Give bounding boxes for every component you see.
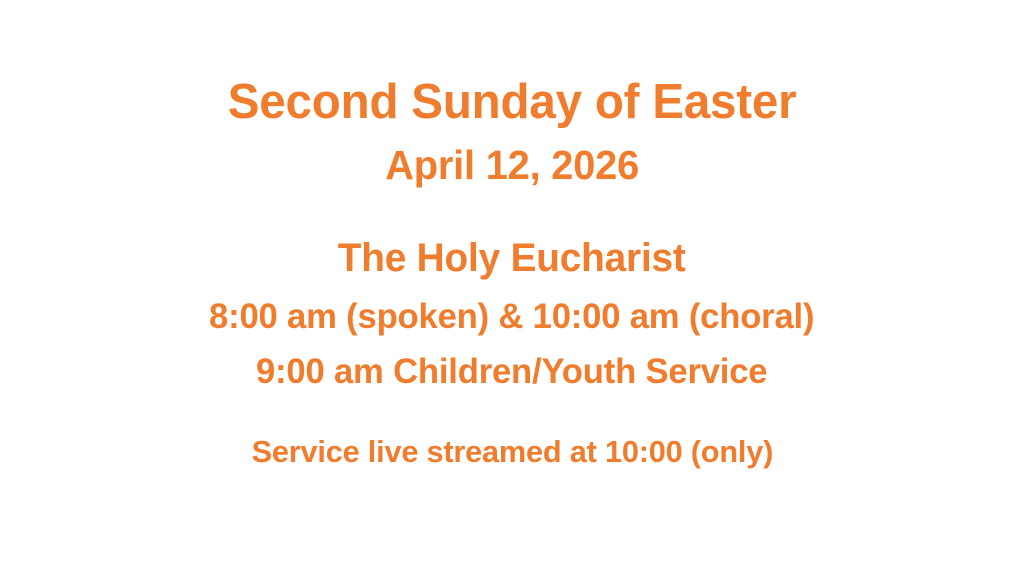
heading-group: Second Sunday of Easter April 12, 2026 <box>219 74 805 189</box>
service-title: The Holy Eucharist <box>215 235 808 281</box>
livestream-group: Service live streamed at 10:00 (only) <box>249 433 776 471</box>
service-group: The Holy Eucharist 8:00 am (spoken) & 10… <box>206 235 817 393</box>
service-times-primary: 8:00 am (spoken) & 10:00 am (choral) <box>209 296 814 338</box>
service-date: April 12, 2026 <box>228 141 797 189</box>
livestream-notice: Service live streamed at 10:00 (only) <box>251 433 772 471</box>
announcement-slide: Second Sunday of Easter April 12, 2026 T… <box>0 0 1024 576</box>
occasion-title: Second Sunday of Easter <box>228 74 797 130</box>
service-times-secondary: 9:00 am Children/Youth Service <box>209 351 814 393</box>
